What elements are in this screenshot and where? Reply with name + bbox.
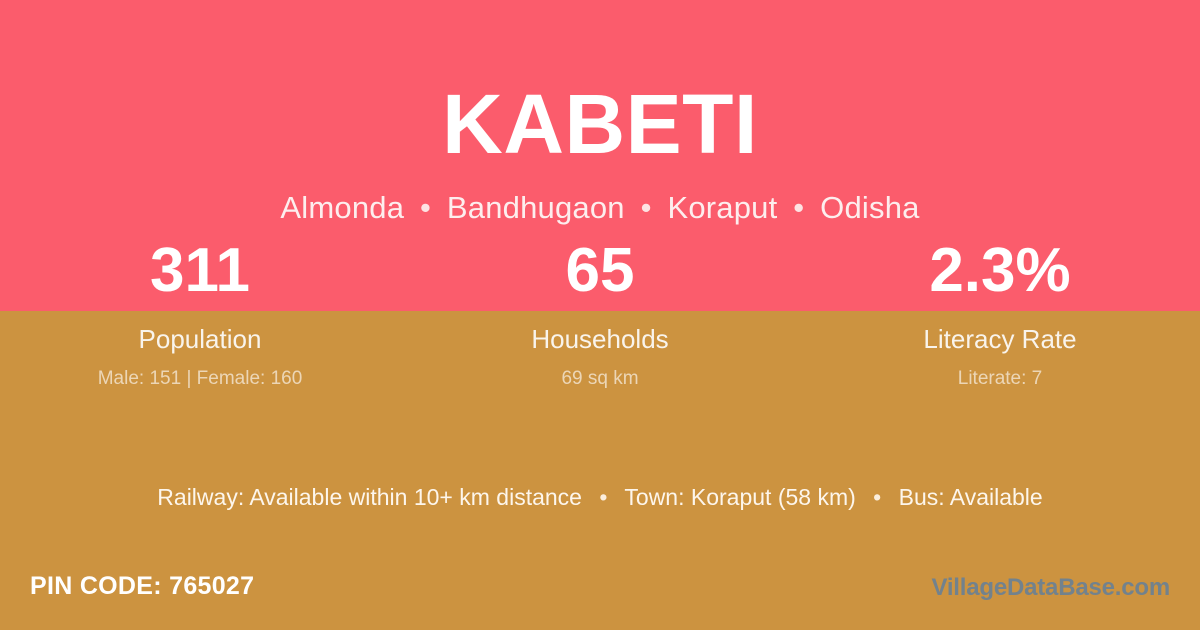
infra-separator: •	[588, 484, 618, 510]
infrastructure-row: Railway: Available within 10+ km distanc…	[0, 486, 1200, 509]
village-info-card: KABETI Almonda • Bandhugaon • Koraput • …	[0, 0, 1200, 630]
stat-sublabel: Male: 151 | Female: 160	[0, 369, 400, 388]
stat-value: 2.3%	[800, 240, 1200, 304]
pin-code-label: PIN CODE: 765027	[30, 574, 254, 599]
card-footer: PIN CODE: 765027 VillageDataBase.com	[0, 574, 1200, 614]
infra-item-bus: Bus: Available	[899, 484, 1043, 510]
breadcrumb-separator: •	[634, 190, 659, 225]
stat-value: 65	[400, 240, 800, 304]
breadcrumb-separator: •	[413, 190, 438, 225]
stat-value: 311	[0, 240, 400, 304]
stat-label: Literacy Rate	[800, 326, 1200, 352]
breadcrumb: Almonda • Bandhugaon • Koraput • Odisha	[0, 192, 1200, 223]
stats-row: 311 Population Male: 151 | Female: 160 6…	[0, 240, 1200, 388]
stat-literacy-rate: 2.3% Literacy Rate Literate: 7	[800, 240, 1200, 388]
stat-households: 65 Households 69 sq km	[400, 240, 800, 388]
stat-population: 311 Population Male: 151 | Female: 160	[0, 240, 400, 388]
stat-label: Households	[400, 326, 800, 352]
breadcrumb-item-state: Odisha	[820, 190, 919, 225]
page-title: KABETI	[0, 82, 1200, 166]
stat-label: Population	[0, 326, 400, 352]
site-brand: VillageDataBase.com	[931, 576, 1170, 600]
infra-item-town: Town: Koraput (58 km)	[624, 484, 855, 510]
breadcrumb-item-district: Koraput	[667, 190, 777, 225]
infra-item-railway: Railway: Available within 10+ km distanc…	[157, 484, 582, 510]
breadcrumb-item-village: Almonda	[280, 190, 404, 225]
stat-sublabel: Literate: 7	[800, 369, 1200, 388]
breadcrumb-item-block: Bandhugaon	[447, 190, 625, 225]
infra-separator: •	[862, 484, 892, 510]
card-header: KABETI Almonda • Bandhugaon • Koraput • …	[0, 0, 1200, 223]
stat-sublabel: 69 sq km	[400, 369, 800, 388]
breadcrumb-separator: •	[786, 190, 811, 225]
